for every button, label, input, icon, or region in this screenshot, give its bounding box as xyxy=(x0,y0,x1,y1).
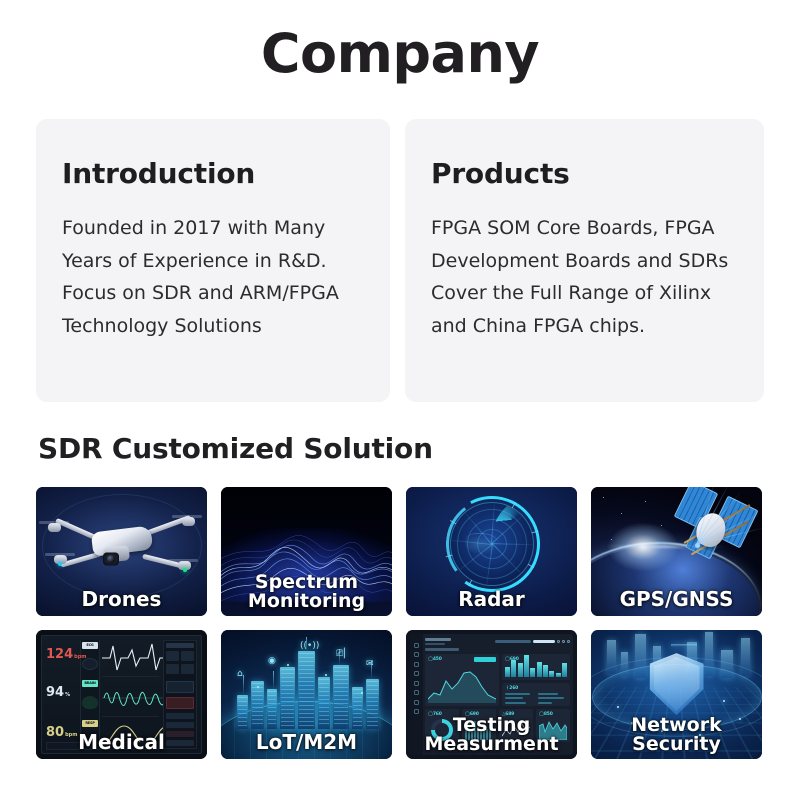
solution-tile-label-iot-m2m: LoT/M2M xyxy=(221,732,392,753)
info-card-group: Introduction Founded in 2017 with Many Y… xyxy=(36,119,764,402)
solution-tile-row-2: ECG BRAIN RESP 124bpm 94% 80bpm xyxy=(36,630,766,759)
mail-icon: ✉ xyxy=(366,660,374,669)
solution-tile-testing-measurement[interactable]: ◯450 ◯690 xyxy=(406,630,577,759)
info-card-products: Products FPGA SOM Core Boards, FPGA Deve… xyxy=(405,119,764,402)
solution-tile-label-medical: Medical xyxy=(36,732,207,753)
globe-icon: ◉ xyxy=(268,657,276,666)
solution-tile-medical[interactable]: ECG BRAIN RESP 124bpm 94% 80bpm xyxy=(36,630,207,759)
card-title-introduction: Introduction xyxy=(62,157,364,190)
section-title-sdr-solution: SDR Customized Solution xyxy=(38,432,433,465)
solution-tile-label-drones: Drones xyxy=(36,589,207,610)
solution-tile-iot-m2m[interactable]: ((•)) ◉ ⎚⎜ ✉ ⌂ LoT/M2M xyxy=(221,630,392,759)
solution-tile-label-gps-gnss: GPS/GNSS xyxy=(591,589,762,610)
solution-tile-label-network-security: Network Security xyxy=(591,716,762,755)
card-body-introduction: Founded in 2017 with Many Years of Exper… xyxy=(62,212,364,343)
label-line-2: Security xyxy=(594,735,759,755)
card-body-products: FPGA SOM Core Boards, FPGA Development B… xyxy=(431,212,738,343)
page-title: Company xyxy=(0,26,800,83)
solution-tile-network-security[interactable]: Network Security xyxy=(591,630,762,759)
solution-tile-spectrum-monitoring[interactable]: Spectrum Monitoring xyxy=(221,487,392,616)
label-line-2: Monitoring xyxy=(224,592,389,612)
solution-tile-grid: Drones xyxy=(36,487,766,773)
cloud-home-icon: ⌂ xyxy=(237,670,243,679)
solution-tile-label-radar: Radar xyxy=(406,589,577,610)
wifi-icon: ((•)) xyxy=(300,642,319,651)
solution-tile-gps-gnss[interactable]: GPS/GNSS xyxy=(591,487,762,616)
company-overview-page: Company Introduction Founded in 2017 wit… xyxy=(0,0,800,800)
solution-tile-drones[interactable]: Drones xyxy=(36,487,207,616)
monitor-icon: ⎚⎜ xyxy=(336,650,348,659)
info-card-introduction: Introduction Founded in 2017 with Many Y… xyxy=(36,119,390,402)
solution-tile-label-testing-measurement: Testing Measurment xyxy=(406,716,577,755)
label-line-2: Measurment xyxy=(409,735,574,755)
solution-tile-row-1: Drones xyxy=(36,487,766,616)
solution-tile-label-spectrum-monitoring: Spectrum Monitoring xyxy=(221,573,392,612)
solution-tile-radar[interactable]: Radar xyxy=(406,487,577,616)
card-title-products: Products xyxy=(431,157,738,190)
